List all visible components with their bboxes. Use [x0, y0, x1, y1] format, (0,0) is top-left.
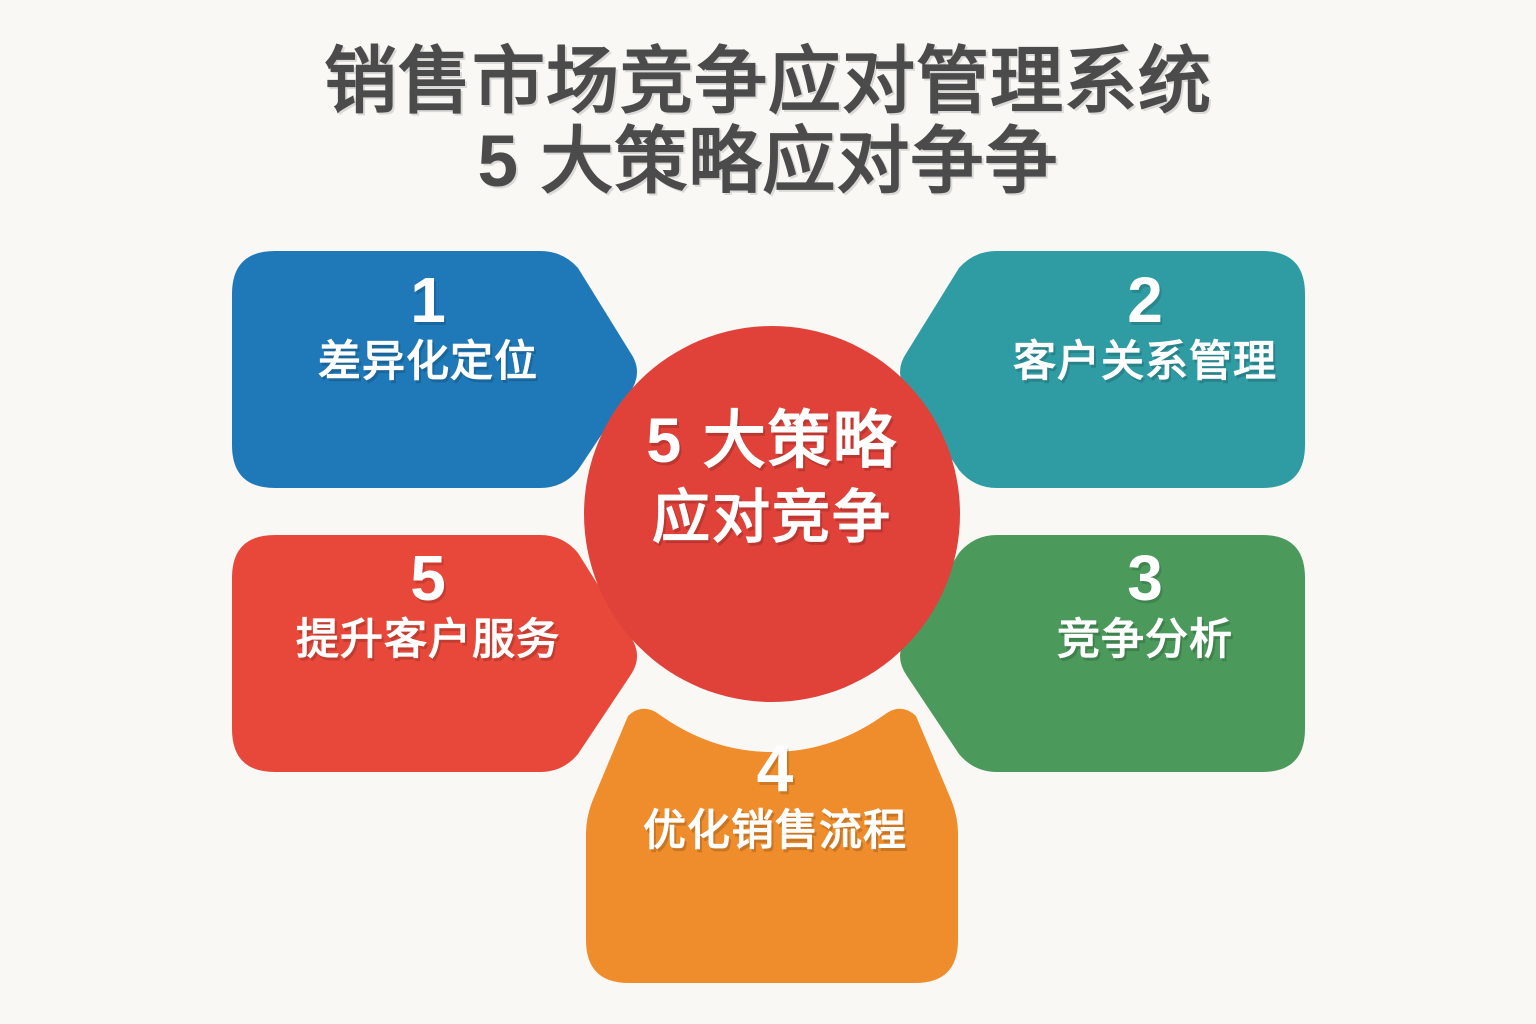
petal-shape-1[interactable] [232, 251, 637, 488]
title-line-1: 销售市场竞争应对管理系统 [0, 44, 1536, 120]
title-line-2: 5 大策略应对争争 [0, 124, 1536, 200]
infographic-canvas: 销售市场竞争应对管理系统 5 大策略应对争争 1 差异化定位 2 客户关系管理 … [0, 0, 1536, 1024]
petal-shape-4[interactable] [586, 709, 958, 983]
petal-shape-3[interactable] [900, 535, 1305, 772]
petal-shape-2[interactable] [900, 251, 1305, 488]
petal-shape-5[interactable] [232, 535, 637, 772]
page-title: 销售市场竞争应对管理系统 5 大策略应对争争 [0, 44, 1536, 200]
hub-circle[interactable] [584, 326, 960, 702]
